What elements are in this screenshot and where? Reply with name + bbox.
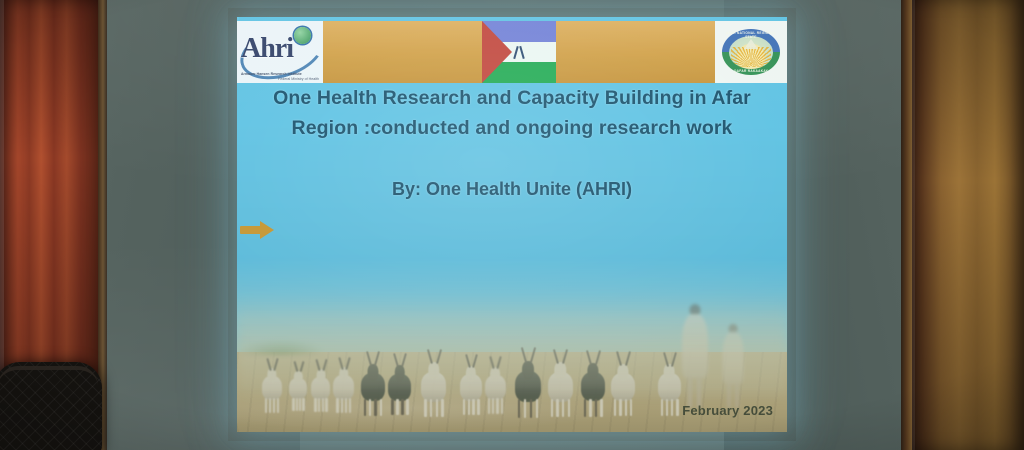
chair: [0, 362, 102, 450]
goat-herd-photo: February 2023: [237, 257, 787, 432]
ahri-subtext-line1: Armauer Hansen Research Institute: [241, 72, 319, 76]
chair-top-rail: [0, 366, 98, 390]
slide-header-band: Ahri Armauer Hansen Research Institute F…: [237, 21, 787, 83]
slide-title-line1: One Health Research and Capacity Buildin…: [273, 87, 751, 109]
ahri-logo-icon: Ahri Armauer Hansen Research Institute F…: [237, 21, 323, 83]
curtain-right: [912, 0, 1024, 450]
slide-byline: By: One Health Unite (AHRI): [237, 143, 787, 200]
emblem-star-icon: [744, 39, 758, 49]
flag-hoist-triangle: [482, 21, 512, 83]
projection-room-scene: Ahri Armauer Hansen Research Institute F…: [0, 0, 1024, 450]
emblem-inner-disc: [729, 36, 773, 69]
emblem-outer-ring: AFAR NATIONAL REGIONAL STATE QAFAR RAKAA…: [722, 29, 780, 75]
header-band-segment-left: [323, 21, 482, 83]
afar-region-emblem-icon: AFAR NATIONAL REGIONAL STATE QAFAR RAKAA…: [715, 21, 787, 83]
slide-text-block: One Health Research and Capacity Buildin…: [237, 83, 787, 200]
ahri-globe-icon: [294, 27, 311, 44]
curtain-right-edge: [901, 0, 912, 450]
slide-date-stamp: February 2023: [682, 403, 773, 418]
flag-center-emblem-icon: [512, 43, 526, 61]
curtain-right-sheen: [912, 0, 1024, 450]
ahri-subtext-line2: Federal Ministry of Health: [278, 77, 319, 81]
arrow-shaft: [240, 226, 262, 234]
afar-region-flag-icon: [482, 21, 556, 83]
ahri-wordmark: Ahri: [241, 33, 293, 65]
arrow-head: [260, 221, 274, 239]
header-band-segment-right: [556, 21, 715, 83]
emblem-ring-text-top: AFAR NATIONAL REGIONAL STATE: [722, 31, 780, 39]
presentation-arrow-pointer: [240, 221, 274, 239]
slide-title-line2: Region :conducted and ongoing research w…: [263, 113, 761, 143]
slide-title: One Health Research and Capacity Buildin…: [237, 83, 787, 143]
emblem-ring-text-bottom: QAFAR RAKAAKAY: [722, 69, 780, 73]
emblem-sun-rays-icon: [731, 47, 771, 67]
projected-slide: Ahri Armauer Hansen Research Institute F…: [237, 17, 787, 432]
